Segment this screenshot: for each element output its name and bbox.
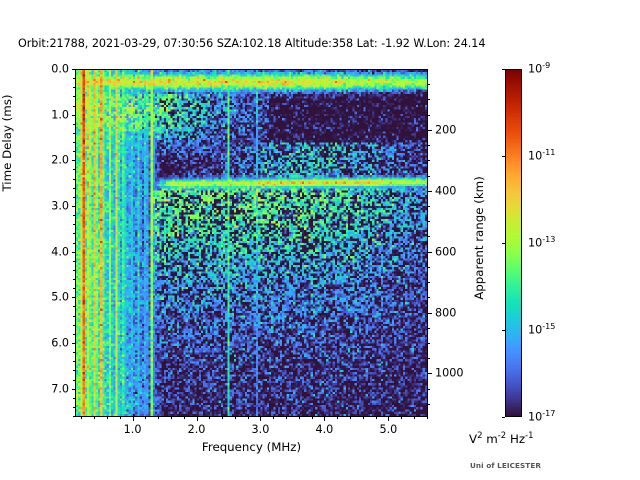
x-tick-major	[197, 417, 198, 421]
x-tick-label: 2.0	[188, 423, 206, 436]
y2-axis-label: Apparent range (km)	[472, 128, 486, 348]
x-tick-label: 1.0	[124, 423, 142, 436]
x-tick-minor	[145, 417, 146, 419]
x-tick-minor	[273, 417, 274, 419]
x-tick-label: 5.0	[379, 423, 397, 436]
x-tick-minor	[222, 417, 223, 419]
x-tick-minor	[363, 417, 364, 419]
y-tick-minor	[73, 124, 75, 125]
y2-tick-minor	[428, 404, 430, 405]
y-tick-minor	[73, 151, 75, 152]
x-tick-minor	[94, 417, 95, 419]
y2-tick-label: 600	[435, 245, 456, 258]
y-tick-minor	[73, 316, 75, 317]
y-tick-minor	[73, 361, 75, 362]
x-tick-minor	[337, 417, 338, 419]
y-tick-minor	[73, 96, 75, 97]
x-tick-major	[260, 417, 261, 421]
colorbar-gradient	[506, 70, 521, 416]
y-tick-minor	[73, 334, 75, 335]
x-tick-minor	[184, 417, 185, 419]
y-tick-minor	[73, 179, 75, 180]
colorbar-tick-label: 10-17	[528, 411, 555, 424]
x-tick-major	[388, 417, 389, 421]
y-tick-major	[72, 389, 76, 390]
y-tick-minor	[73, 224, 75, 225]
y-tick-minor	[73, 288, 75, 289]
y-tick-minor	[73, 270, 75, 271]
y-tick-label: 1.0	[37, 108, 69, 121]
y-tick-label: 0.0	[37, 63, 69, 76]
x-tick-minor	[81, 417, 82, 419]
ionogram-heatmap	[76, 70, 427, 416]
y2-tick-label: 200	[435, 123, 456, 136]
y-tick-minor	[73, 306, 75, 307]
y-tick-minor	[73, 142, 75, 143]
y2-tick-minor	[428, 221, 430, 222]
y-tick-minor	[73, 197, 75, 198]
y-tick-label: 2.0	[37, 154, 69, 167]
y-tick-major	[72, 115, 76, 116]
x-tick-label: 3.0	[252, 423, 270, 436]
y-tick-minor	[73, 133, 75, 134]
y-tick-minor	[73, 261, 75, 262]
credit-label: Uni of LEICESTER	[470, 461, 541, 470]
y-tick-major	[72, 252, 76, 253]
x-tick-minor	[401, 417, 402, 419]
y-axis-label: Time Delay (ms)	[0, 43, 14, 243]
y-tick-minor	[73, 416, 75, 417]
x-tick-major	[324, 417, 325, 421]
y-tick-label: 7.0	[37, 382, 69, 395]
y-tick-minor	[73, 106, 75, 107]
y2-tick-minor	[428, 297, 430, 298]
y2-tick-minor	[428, 282, 430, 283]
y2-tick-minor	[428, 389, 430, 390]
y2-tick-minor	[428, 236, 430, 237]
y2-tick-label: 400	[435, 184, 456, 197]
y-tick-minor	[73, 407, 75, 408]
x-tick-minor	[286, 417, 287, 419]
y-tick-major	[72, 206, 76, 207]
y2-tick-major	[428, 191, 432, 192]
y-tick-minor	[73, 215, 75, 216]
x-tick-minor	[248, 417, 249, 419]
x-axis-label: Frequency (MHz)	[75, 440, 428, 454]
colorbar-tick	[502, 417, 506, 418]
y-tick-major	[72, 160, 76, 161]
y2-tick-minor	[428, 99, 430, 100]
colorbar	[505, 69, 522, 417]
x-tick-minor	[414, 417, 415, 419]
x-tick-minor	[235, 417, 236, 419]
colorbar-tick-label: 10-11	[528, 150, 555, 163]
y-tick-minor	[73, 380, 75, 381]
colorbar-tick-label: 10-9	[528, 63, 550, 76]
plot-title: Orbit:21788, 2021-03-29, 07:30:56 SZA:10…	[18, 37, 485, 50]
x-tick-minor	[107, 417, 108, 419]
x-tick-label: 4.0	[315, 423, 333, 436]
y2-tick-minor	[428, 343, 430, 344]
y2-tick-label: 1000	[435, 367, 463, 380]
x-tick-minor	[209, 417, 210, 419]
y-tick-label: 3.0	[37, 200, 69, 213]
y2-tick-minor	[428, 206, 430, 207]
y-tick-minor	[73, 279, 75, 280]
y-tick-minor	[73, 370, 75, 371]
x-tick-minor	[158, 417, 159, 419]
ionogram-figure: Orbit:21788, 2021-03-29, 07:30:56 SZA:10…	[0, 0, 640, 480]
y2-tick-minor	[428, 115, 430, 116]
y-tick-label: 4.0	[37, 245, 69, 258]
y2-tick-minor	[428, 328, 430, 329]
y2-tick-minor	[428, 84, 430, 85]
x-tick-major	[133, 417, 134, 421]
x-tick-minor	[312, 417, 313, 419]
y2-tick-major	[428, 130, 432, 131]
colorbar-tick-label: 10-13	[528, 237, 555, 250]
y2-tick-major	[428, 313, 432, 314]
y-tick-minor	[73, 87, 75, 88]
x-tick-minor	[120, 417, 121, 419]
y-tick-minor	[73, 233, 75, 234]
y2-tick-minor	[428, 145, 430, 146]
colorbar-units-label: V2 m-2 Hz-1	[469, 432, 534, 446]
y2-tick-minor	[428, 160, 430, 161]
ionogram-axes	[75, 69, 428, 417]
y-tick-minor	[73, 352, 75, 353]
y-tick-minor	[73, 243, 75, 244]
y-tick-minor	[73, 398, 75, 399]
y-tick-minor	[73, 78, 75, 79]
y2-tick-label: 800	[435, 306, 456, 319]
y-tick-minor	[73, 188, 75, 189]
y-tick-major	[72, 69, 76, 70]
y-tick-label: 5.0	[37, 291, 69, 304]
y-tick-minor	[73, 325, 75, 326]
x-tick-minor	[299, 417, 300, 419]
y2-tick-major	[428, 373, 432, 374]
y2-tick-minor	[428, 176, 430, 177]
y-tick-major	[72, 343, 76, 344]
y2-tick-major	[428, 252, 432, 253]
x-tick-minor	[171, 417, 172, 419]
colorbar-tick-label: 10-15	[528, 324, 555, 337]
x-tick-minor	[376, 417, 377, 419]
y2-tick-minor	[428, 267, 430, 268]
x-tick-minor	[427, 417, 428, 419]
x-tick-minor	[350, 417, 351, 419]
y-tick-minor	[73, 169, 75, 170]
y2-tick-minor	[428, 358, 430, 359]
y-tick-major	[72, 297, 76, 298]
y-tick-label: 6.0	[37, 337, 69, 350]
